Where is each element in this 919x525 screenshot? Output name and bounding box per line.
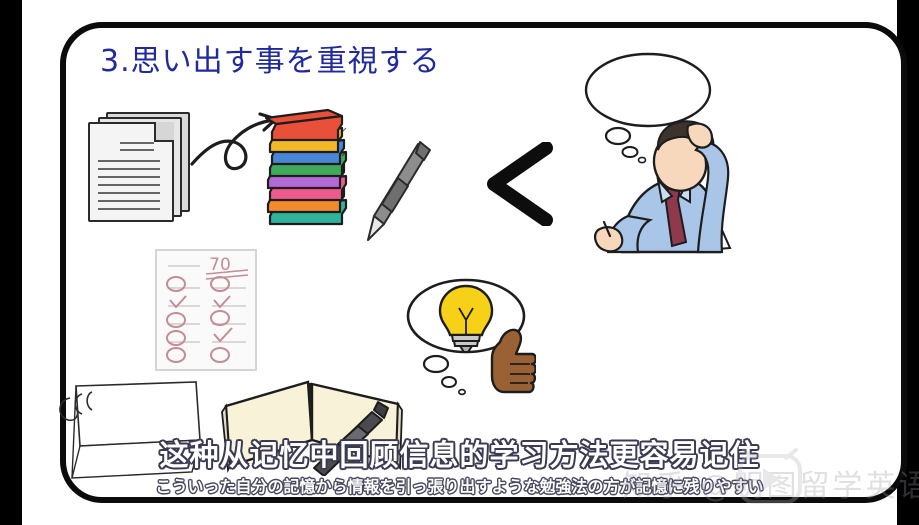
thinking-man-illustration bbox=[570, 46, 752, 258]
letterbox-bar-left bbox=[0, 0, 22, 525]
page-title: 3.思い出す事を重視する bbox=[100, 36, 441, 80]
subtitle-japanese: こういった自分の記憶から情報を引っ張り出すような勉強法の方が記憶に残りやすい bbox=[22, 473, 897, 497]
slide-canvas: 3.思い出す事を重視する bbox=[22, 0, 897, 525]
video-frame: 3.思い出す事を重視する bbox=[0, 0, 919, 525]
idea-thumbsup-illustration bbox=[404, 272, 536, 398]
gray-pen-icon bbox=[358, 138, 436, 248]
documents-stack-icon bbox=[84, 112, 194, 220]
book-stack-icon bbox=[258, 108, 358, 230]
less-than-chevron-icon bbox=[484, 142, 556, 226]
graded-test-paper: 70 bbox=[154, 248, 258, 372]
subtitle-chinese: 这种从记忆中回顾信息的学习方法更容易记住 bbox=[22, 432, 897, 474]
